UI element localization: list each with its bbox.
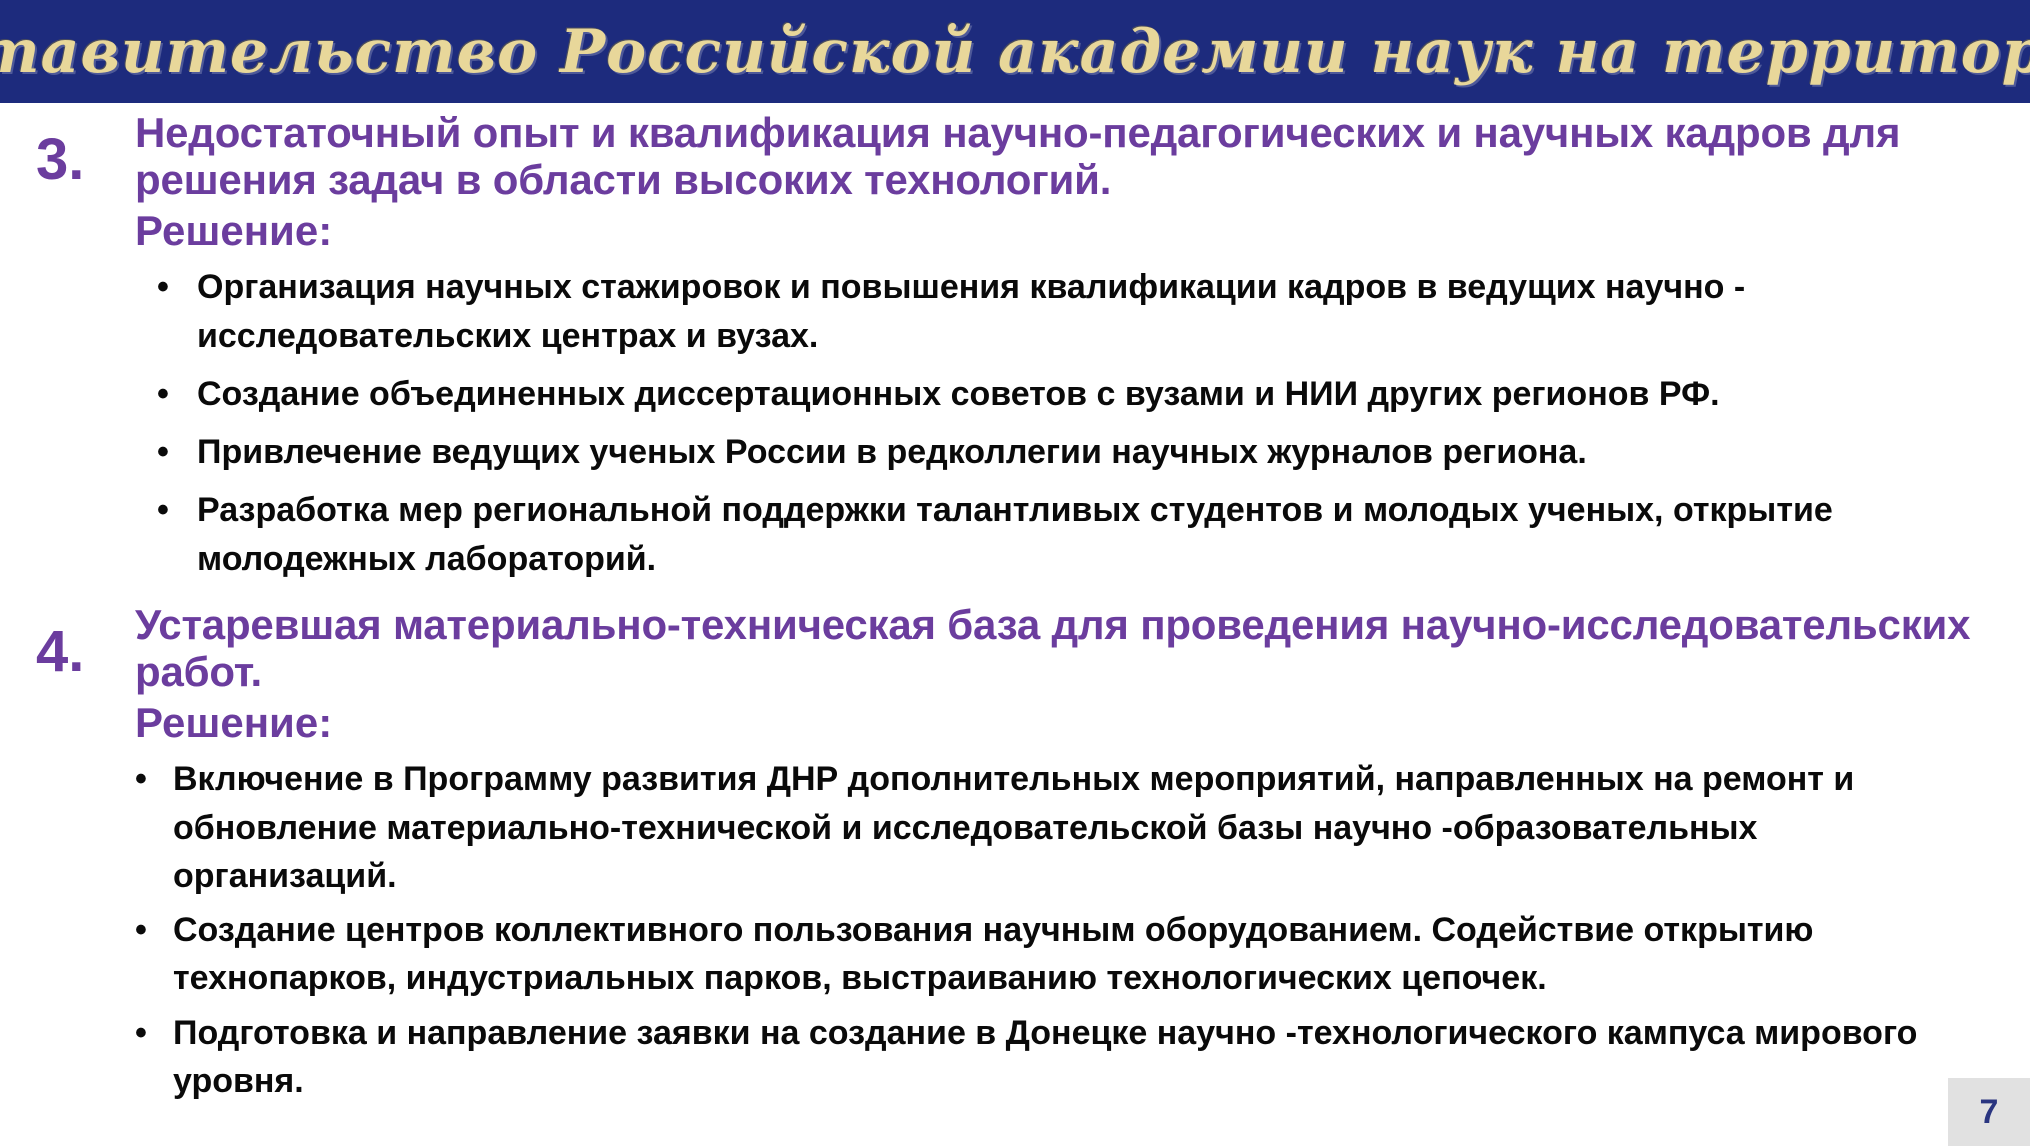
list-item-text: Включение в Программу развития ДНР допол… xyxy=(173,760,1854,895)
section-4-number: 4. xyxy=(36,623,84,681)
list-item: •Подготовка и направление заявки на созд… xyxy=(125,1009,1990,1106)
section-4-heading: Устаревшая материально-техническая база … xyxy=(135,601,1990,695)
bullet-icon: • xyxy=(135,755,147,803)
section-4-solution-label: Решение: xyxy=(135,699,1990,747)
list-item-text: Подготовка и направление заявки на созда… xyxy=(173,1014,1917,1100)
section-4: 4. Устаревшая материально-техническая ба… xyxy=(0,601,2030,1105)
section-3-number: 3. xyxy=(36,131,84,189)
header-banner: Представительство Российской академии на… xyxy=(0,0,2030,103)
list-item: •Привлечение ведущих ученых России в ред… xyxy=(135,428,1990,476)
section-3-solution-label: Решение: xyxy=(135,207,1990,255)
section-4-bullet-list: •Включение в Программу развития ДНР допо… xyxy=(125,755,1990,1105)
bullet-icon: • xyxy=(157,486,169,534)
list-item-text: Создание объединенных диссертационных со… xyxy=(197,375,1720,413)
section-4-body: Устаревшая материально-техническая база … xyxy=(135,601,1990,1105)
section-3: 3. Недостаточный опыт и квалификация нау… xyxy=(0,109,2030,583)
list-item-text: Организация научных стажировок и повышен… xyxy=(197,268,1745,354)
banner-title: Представительство Российской академии на… xyxy=(0,0,2030,103)
list-item-text: Создание центров коллективного пользован… xyxy=(173,911,1813,997)
bullet-icon: • xyxy=(157,370,169,418)
list-item-text: Привлечение ведущих ученых России в редк… xyxy=(197,433,1587,471)
list-item: •Организация научных стажировок и повыше… xyxy=(135,263,1990,360)
bullet-icon: • xyxy=(135,906,147,954)
bullet-icon: • xyxy=(157,428,169,476)
page-number: 7 xyxy=(1980,1093,1999,1132)
list-item: •Создание центров коллективного пользова… xyxy=(125,906,1990,1003)
list-item: •Разработка мер региональной поддержки т… xyxy=(135,486,1990,583)
bullet-icon: • xyxy=(135,1009,147,1057)
bullet-icon: • xyxy=(157,263,169,311)
slide: Представительство Российской академии на… xyxy=(0,0,2030,1146)
section-3-body: Недостаточный опыт и квалификация научно… xyxy=(135,109,1990,583)
slide-content: 3. Недостаточный опыт и квалификация нау… xyxy=(0,103,2030,1146)
page-number-box: 7 xyxy=(1948,1078,2030,1146)
section-3-heading: Недостаточный опыт и квалификация научно… xyxy=(135,109,1990,203)
section-3-bullet-list: •Организация научных стажировок и повыше… xyxy=(135,263,1990,583)
list-item-text: Разработка мер региональной поддержки та… xyxy=(197,491,1833,577)
list-item: •Создание объединенных диссертационных с… xyxy=(135,370,1990,418)
list-item: •Включение в Программу развития ДНР допо… xyxy=(125,755,1990,900)
